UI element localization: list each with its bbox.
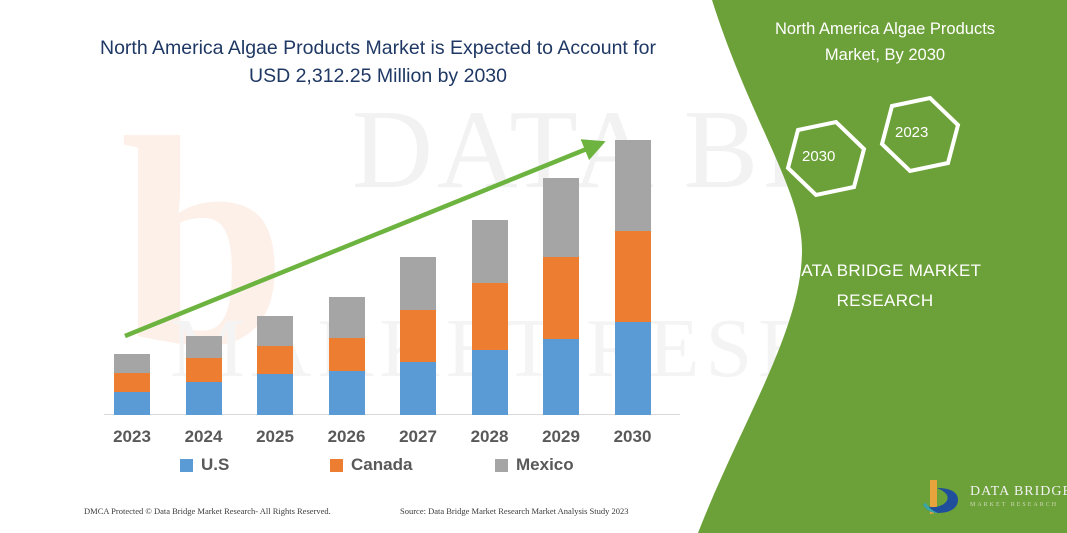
x-axis-label-2029: 2029 bbox=[531, 427, 591, 447]
panel-title: North America Algae Products Market, By … bbox=[720, 16, 1050, 68]
data-bridge-logo: DATA BRIDGE MARKET RESEARCH bbox=[920, 478, 1055, 520]
x-axis-label-2030: 2030 bbox=[603, 427, 663, 447]
hexagon-badges: 2030 2023 bbox=[740, 92, 1030, 217]
panel-brand-line1: DATA BRIDGE MARKET bbox=[789, 261, 982, 280]
legend-swatch-icon bbox=[330, 459, 343, 472]
legend-swatch-icon bbox=[180, 459, 193, 472]
logo-name: DATA BRIDGE bbox=[970, 484, 1067, 500]
stacked-bar-chart: 20232024202520262027202820292030 U.SCana… bbox=[0, 0, 700, 533]
x-axis-labels: 20232024202520262027202820292030 bbox=[0, 427, 700, 453]
panel-title-line2: Market, By 2030 bbox=[825, 46, 945, 64]
chart-legend: U.SCanadaMexico bbox=[160, 455, 620, 479]
footer-bar: DMCA Protected © Data Bridge Market Rese… bbox=[0, 506, 700, 526]
x-axis-label-2023: 2023 bbox=[102, 427, 162, 447]
x-axis-label-2027: 2027 bbox=[388, 427, 448, 447]
footer-source: Source: Data Bridge Market Research Mark… bbox=[400, 506, 629, 516]
legend-swatch-icon bbox=[495, 459, 508, 472]
legend-label: U.S bbox=[201, 455, 229, 475]
logo-subtitle: MARKET RESEARCH bbox=[970, 502, 1058, 508]
hexagon-label-2030: 2030 bbox=[802, 148, 835, 165]
trend-arrow-icon bbox=[0, 0, 700, 533]
panel-brand: DATA BRIDGE MARKET RESEARCH bbox=[720, 256, 1050, 316]
green-panel-content: North America Algae Products Market, By … bbox=[700, 0, 1067, 533]
x-axis-label-2026: 2026 bbox=[317, 427, 377, 447]
x-axis-label-2025: 2025 bbox=[245, 427, 305, 447]
legend-item-US[interactable]: U.S bbox=[180, 455, 229, 475]
data-bridge-logo-icon bbox=[920, 478, 968, 518]
legend-item-Canada[interactable]: Canada bbox=[330, 455, 412, 475]
hexagon-outline-icons bbox=[740, 92, 1030, 217]
legend-label: Mexico bbox=[516, 455, 574, 475]
footer-copyright: DMCA Protected © Data Bridge Market Rese… bbox=[84, 506, 331, 516]
legend-item-Mexico[interactable]: Mexico bbox=[495, 455, 574, 475]
legend-label: Canada bbox=[351, 455, 412, 475]
infographic-canvas: b DATA BRIDGE MARKET RESEARCH North Amer… bbox=[0, 0, 1067, 533]
panel-brand-line2: RESEARCH bbox=[837, 291, 934, 310]
x-axis-label-2024: 2024 bbox=[174, 427, 234, 447]
x-axis-label-2028: 2028 bbox=[460, 427, 520, 447]
panel-title-line1: North America Algae Products bbox=[775, 20, 995, 38]
hexagon-label-2023: 2023 bbox=[895, 124, 928, 141]
